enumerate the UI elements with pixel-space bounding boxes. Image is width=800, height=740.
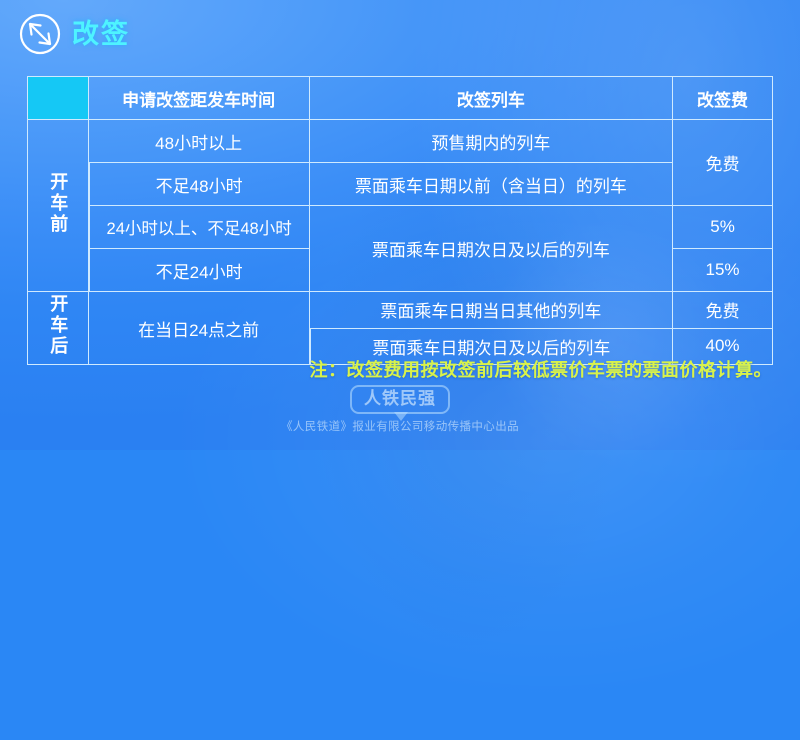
page-root: 改签 申请改签距发车时间 改签列车 改签费 开车前 48小时以上 预售 (0, 0, 800, 450)
cell-train: 预售期内的列车 (310, 120, 673, 163)
table-header-cell-blank (27, 76, 89, 120)
cell-fee: 免费 (673, 120, 773, 206)
table-header-cell-train: 改签列车 (310, 76, 673, 120)
table-header-row: 申请改签距发车时间 改签列车 改签费 (27, 76, 773, 120)
section-label-before-departure: 开车前 (27, 120, 89, 292)
table-row: 24小时以上、不足48小时 票面乘车日期次日及以后的列车 5% (27, 206, 773, 249)
page-header: 改签 (18, 12, 130, 56)
table-row: 不足48小时 票面乘车日期以前（含当日）的列车 (27, 163, 773, 206)
cell-fee: 5% (673, 206, 773, 249)
watermark-logo: 人铁民强 (350, 385, 450, 414)
cell-train: 票面乘车日期当日其他的列车 (310, 292, 673, 329)
table-row: 开车前 48小时以上 预售期内的列车 免费 (27, 120, 773, 163)
cell-fee: 免费 (673, 292, 773, 329)
no-transfer-circle-icon (18, 12, 62, 56)
cell-fee: 15% (673, 249, 773, 292)
table-row: 开车后 在当日24点之前 票面乘车日期当日其他的列车 免费 (27, 292, 773, 329)
cell-when: 不足48小时 (89, 163, 310, 206)
watermark: 人铁民强 《人民铁道》报业有限公司移动传播中心出品 (0, 385, 800, 434)
footnote-text: 注：改签费用按改签前后较低票价车票的票面价格计算。 (310, 356, 773, 382)
table-header-cell-when: 申请改签距发车时间 (89, 76, 310, 120)
cell-train: 票面乘车日期次日及以后的列车 (310, 206, 673, 292)
table-header-cell-fee: 改签费 (673, 76, 773, 120)
cell-when: 24小时以上、不足48小时 (89, 206, 310, 249)
cell-when: 不足24小时 (89, 249, 310, 292)
refund-fee-table: 申请改签距发车时间 改签列车 改签费 开车前 48小时以上 预售期内的列车 免费… (27, 76, 773, 365)
section-label-after-departure: 开车后 (27, 292, 89, 365)
cell-when: 48小时以上 (89, 120, 310, 163)
cell-when: 在当日24点之前 (89, 292, 310, 365)
cell-train: 票面乘车日期以前（含当日）的列车 (310, 163, 673, 206)
page-title: 改签 (72, 21, 130, 48)
refund-fee-table-wrapper: 申请改签距发车时间 改签列车 改签费 开车前 48小时以上 预售期内的列车 免费… (27, 76, 773, 365)
